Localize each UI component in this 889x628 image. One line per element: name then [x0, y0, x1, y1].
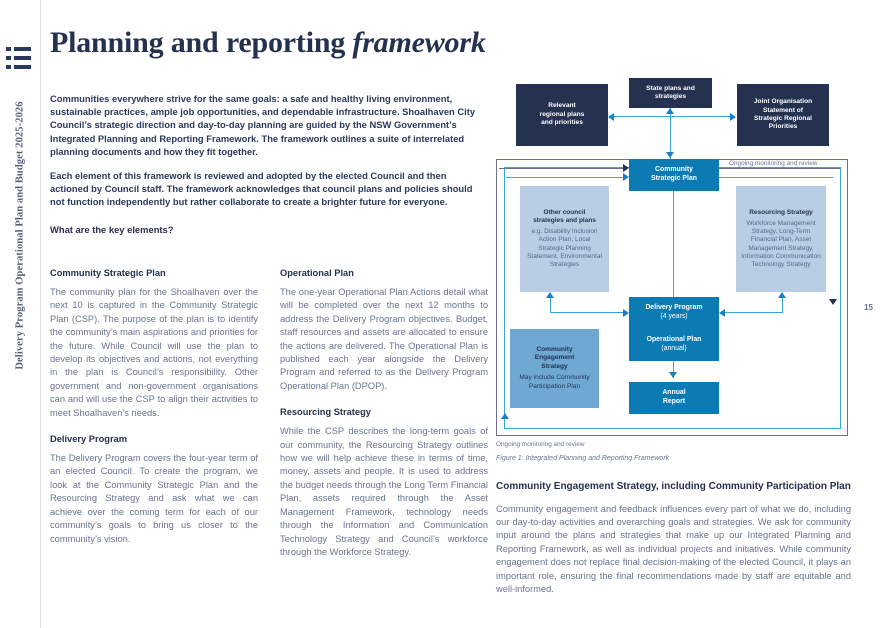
connector-elbow-right-h	[724, 312, 782, 313]
node-delivery-title: Delivery Program	[645, 304, 702, 313]
node-relevant-regional-plans: Relevant regional plans and priorities	[516, 84, 608, 146]
page-number: 15	[864, 303, 873, 312]
connector-elbow-left-v	[550, 298, 551, 313]
arrow-top-right	[730, 113, 736, 121]
arrow-elbow-left-right	[623, 309, 629, 317]
node-other-council-strategies: Other council strategies and plans e.g. …	[520, 186, 609, 292]
arrow-elbow-right-up	[778, 292, 786, 298]
arrow-elbow-right-left	[719, 309, 725, 317]
arrow-top-left	[608, 113, 614, 121]
node-annual-report: Annual Report	[629, 382, 719, 414]
node-resourcing-sub: Workforce Management Strategy, Long-Term…	[741, 220, 821, 269]
connector-csp-out-right-grey	[719, 168, 840, 169]
body-community-strategic-plan: The community plan for the Shoalhaven ov…	[50, 286, 258, 420]
node-joint-organisation-line1: Joint Organisation	[754, 98, 812, 106]
node-csp-line2: Strategic Plan	[651, 175, 697, 184]
key-elements-heading: What are the key elements?	[50, 224, 482, 235]
figure-caption: Figure 1: Integrated Planning and Report…	[496, 455, 669, 462]
node-other-council-title-1: Other council	[544, 209, 586, 217]
node-engagement-title-1: Community	[536, 346, 572, 354]
column-left: Community Strategic Plan The community p…	[50, 268, 258, 563]
vertical-divider	[40, 0, 41, 628]
node-csp-line1: Community	[655, 166, 693, 175]
engagement-section-body: Community engagement and feedback influe…	[496, 503, 851, 597]
node-relevant-regional-plans-line3: and priorities	[541, 119, 583, 127]
node-resourcing-strategy: Resourcing Strategy Workforce Management…	[736, 186, 826, 292]
node-other-council-title-2: strategies and plans	[533, 217, 596, 225]
spine-document-label: Delivery Program Operational Plan and Bu…	[15, 66, 26, 406]
node-operational-plan: Operational Plan (annual)	[629, 329, 719, 361]
page-title: Planning and reporting framework	[50, 26, 486, 60]
left-spine: Delivery Program Operational Plan and Bu…	[0, 0, 40, 628]
node-delivery-program: Delivery Program (4 years)	[629, 297, 719, 329]
connector-elbow-left-h	[550, 312, 625, 313]
ongoing-monitoring-label: Ongoing monitoring and review	[729, 160, 817, 167]
intro-paragraph-2: Each element of this framework is review…	[50, 169, 482, 209]
document-page: Delivery Program Operational Plan and Bu…	[0, 0, 889, 628]
connector-elbow-right-v	[782, 298, 783, 313]
node-relevant-regional-plans-line2: regional plans	[540, 111, 585, 119]
body-operational-plan: The one-year Operational Plan Actions de…	[280, 286, 488, 393]
two-column-body: Community Strategic Plan The community p…	[50, 268, 488, 563]
connector-inner-left-into-csp	[506, 177, 625, 178]
connector-outer-left-into-csp	[499, 168, 625, 169]
arrow-down-to-csp	[666, 152, 674, 158]
arrow-outer-left-into-csp	[623, 164, 629, 172]
node-joint-organisation-line3: Strategic Regional	[754, 115, 812, 123]
node-relevant-regional-plans-line1: Relevant	[548, 102, 576, 110]
arrow-right-loop-down	[829, 299, 837, 305]
node-state-plans-line1: State plans and	[646, 85, 695, 93]
node-community-strategic-plan: Community Strategic Plan	[629, 159, 719, 191]
node-operational-title: Operational Plan	[647, 336, 702, 345]
node-annual-report-line1: Annual	[662, 389, 685, 398]
arrow-elbow-left-up	[546, 292, 554, 298]
node-state-plans: State plans and strategies	[629, 78, 712, 108]
arrow-down-to-annual-report	[669, 372, 677, 378]
node-joint-organisation-line4: Priorities	[769, 123, 798, 131]
node-annual-report-line2: Report	[663, 398, 685, 407]
node-engagement-title-3: Strategy	[541, 363, 567, 371]
connector-csp-out-right-blue	[719, 177, 833, 178]
arrow-up-to-state-plans	[666, 108, 674, 114]
arrow-inner-left-into-csp	[623, 173, 629, 181]
body-resourcing-strategy: While the CSP describes the long-term go…	[280, 425, 488, 559]
intro-paragraph-1: Communities everywhere strive for the sa…	[50, 92, 482, 158]
ipr-framework-diagram: Relevant regional plans and priorities S…	[496, 76, 848, 436]
node-joint-organisation-line2: Statement of	[763, 107, 803, 115]
heading-community-strategic-plan: Community Strategic Plan	[50, 268, 258, 278]
connector-top-horizontal	[614, 116, 731, 117]
node-other-council-sub: e.g. Disability Inclusion Action Plan, L…	[526, 228, 603, 269]
heading-operational-plan: Operational Plan	[280, 268, 488, 278]
engagement-section-heading: Community Engagement Strategy, including…	[496, 480, 851, 494]
page-title-regular: Planning and reporting	[50, 26, 352, 59]
node-delivery-sub: (4 years)	[660, 313, 687, 322]
heading-resourcing-strategy: Resourcing Strategy	[280, 407, 488, 417]
connector-csp-to-delivery	[673, 191, 674, 297]
community-engagement-section: Community Engagement Strategy, including…	[496, 480, 851, 596]
arrow-bottom-loop-up	[501, 413, 509, 419]
node-state-plans-line2: strategies	[655, 93, 686, 101]
page-title-italic: framework	[352, 26, 485, 59]
node-joint-organisation: Joint Organisation Statement of Strategi…	[737, 84, 829, 146]
node-resourcing-title: Resourcing Strategy	[749, 209, 813, 217]
node-operational-sub: (annual)	[661, 345, 686, 354]
node-engagement-sub: May include Community Participation Plan	[515, 374, 594, 391]
intro-block: Communities everywhere strive for the sa…	[50, 92, 482, 235]
heading-delivery-program: Delivery Program	[50, 434, 258, 444]
diagram-caption-monitoring: Ongoing monitoring and review	[496, 441, 584, 448]
node-community-engagement-strategy: Community Engagement Strategy May includ…	[510, 329, 599, 408]
node-engagement-title-2: Engagement	[535, 354, 575, 362]
column-right: Operational Plan The one-year Operationa…	[280, 268, 488, 563]
body-delivery-program: The Delivery Program covers the four-yea…	[50, 452, 258, 546]
